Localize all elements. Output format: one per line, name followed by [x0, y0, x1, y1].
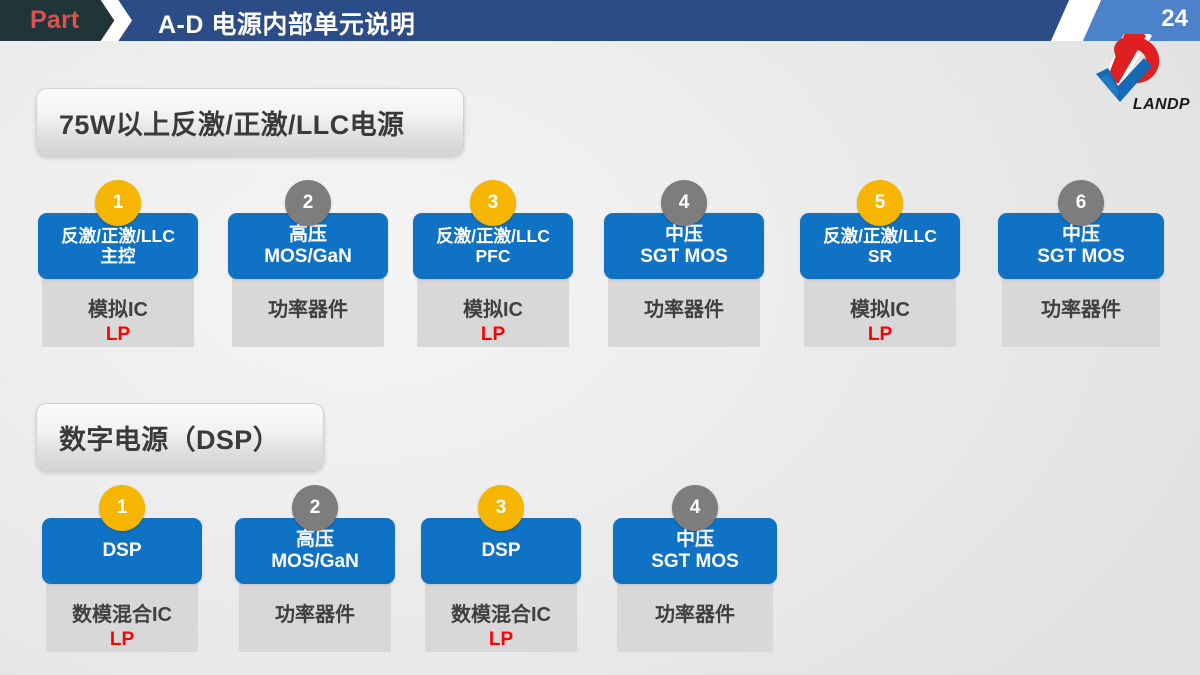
unit-detail-card: 功率器件 [1002, 272, 1160, 347]
landp-logo: LANDP [1074, 34, 1192, 116]
unit-kind: 模拟IC [850, 293, 910, 322]
step-badge: 4 [661, 180, 707, 226]
unit-kind: 功率器件 [275, 598, 355, 627]
slide-header: Part A-D 电源内部单元说明 24 [0, 0, 1200, 41]
section-title-2: 数字电源（DSP） [59, 418, 280, 457]
section-title-1: 75W以上反激/正激/LLC电源 [59, 103, 404, 142]
step-badge: 2 [285, 180, 331, 226]
unit-title-line2: 主控 [101, 246, 136, 266]
page-title: A-D 电源内部单元说明 [158, 5, 415, 41]
step-badge: 4 [672, 485, 718, 531]
page-number: 24 [1161, 5, 1188, 33]
part-label: Part [30, 6, 79, 35]
unit-title-line1: 反激/正激/LLC [823, 226, 937, 246]
unit-title-line2: SGT MOS [651, 551, 739, 573]
unit-detail-card: 模拟IC LP [804, 272, 956, 347]
slide: Part A-D 电源内部单元说明 24 LANDP 75W以上反激/正激/LL… [0, 0, 1200, 675]
unit-detail-card: 功率器件 [617, 577, 773, 652]
unit-title-line1: 中压 [665, 224, 703, 246]
unit-kind: 功率器件 [655, 598, 735, 627]
unit-title-line1: 中压 [1062, 224, 1100, 246]
unit-detail-card: 数模混合IC LP [46, 577, 198, 652]
unit-tag: LP [868, 324, 892, 346]
step-badge: 6 [1058, 180, 1104, 226]
unit-title-line1: 中压 [676, 529, 714, 551]
unit-kind: 数模混合IC [72, 598, 172, 627]
unit-tag: LP [481, 324, 505, 346]
unit-tag: LP [110, 629, 134, 651]
unit-detail-card: 功率器件 [608, 272, 760, 347]
unit-detail-card: 数模混合IC LP [425, 577, 577, 652]
step-badge: 3 [478, 485, 524, 531]
unit-title-line1: 反激/正激/LLC [436, 226, 550, 246]
unit-title-line1: DSP [102, 540, 141, 562]
section-header-2: 数字电源（DSP） [36, 403, 324, 471]
unit-title-line2: SR [868, 246, 892, 266]
unit-title-line2: MOS/GaN [264, 246, 352, 268]
unit-title-line1: 高压 [296, 529, 334, 551]
step-badge: 2 [292, 485, 338, 531]
unit-title-line2: PFC [476, 246, 511, 266]
unit-tag: LP [489, 629, 513, 651]
unit-title-line2: SGT MOS [1037, 246, 1125, 268]
unit-detail-card: 功率器件 [239, 577, 391, 652]
step-badge: 3 [470, 180, 516, 226]
unit-title-line1: 高压 [289, 224, 327, 246]
unit-title-line1: DSP [481, 540, 520, 562]
unit-kind: 功率器件 [268, 293, 348, 322]
unit-kind: 数模混合IC [451, 598, 551, 627]
unit-kind: 功率器件 [644, 293, 724, 322]
unit-kind: 功率器件 [1041, 293, 1121, 322]
unit-title-line1: 反激/正激/LLC [61, 226, 175, 246]
unit-title-line2: SGT MOS [640, 246, 728, 268]
unit-kind: 模拟IC [463, 293, 523, 322]
unit-detail-card: 模拟IC LP [42, 272, 194, 347]
section-header-1: 75W以上反激/正激/LLC电源 [36, 88, 464, 156]
step-badge: 1 [99, 485, 145, 531]
unit-tag: LP [106, 324, 130, 346]
unit-detail-card: 功率器件 [232, 272, 384, 347]
step-badge: 5 [857, 180, 903, 226]
unit-kind: 模拟IC [88, 293, 148, 322]
unit-detail-card: 模拟IC LP [417, 272, 569, 347]
step-badge: 1 [95, 180, 141, 226]
unit-title-line2: MOS/GaN [271, 551, 359, 573]
landp-wordmark: LANDP [1133, 96, 1190, 114]
